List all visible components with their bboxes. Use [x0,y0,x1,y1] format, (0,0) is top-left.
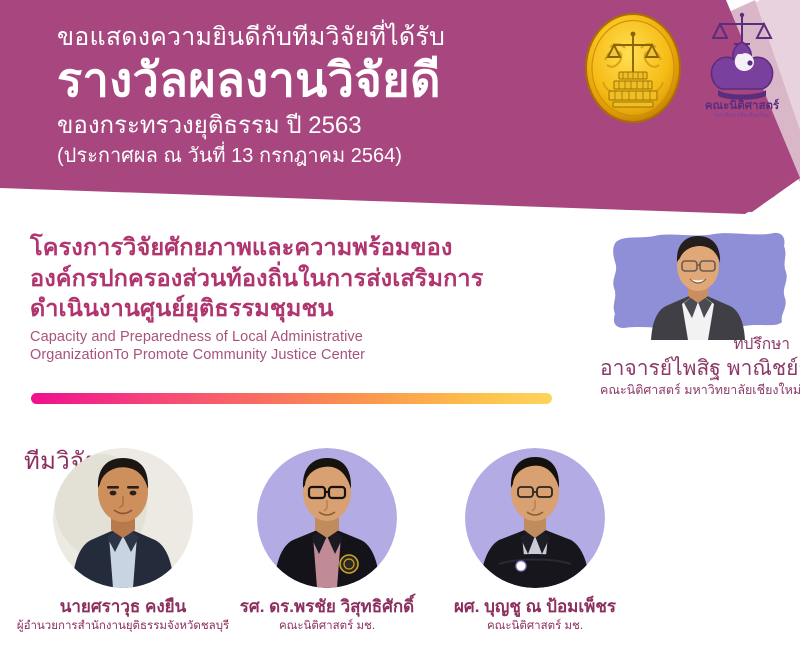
team-member-role: คณะนิติศาสตร์ มช. [420,620,650,634]
project-title-th-line-3: ดำเนินงานศูนย์ยุติธรรมชุมชน [30,293,560,324]
team-member-2: รศ. ดร.พรชัย วิสุทธิศักดิ์ คณะนิติศาสตร์… [212,448,442,634]
advisor-card: ที่ปรึกษา อาจารย์ไพสิฐ พาณิชย์กุล คณะนิต… [600,228,800,399]
ministry-year-line: ของกระทรวงยุติธรรม ปี 2563 [57,110,445,141]
team-member-name: นายศราวุธ คงยืน [8,597,238,617]
header-banner: ขอแสดงความยินดีกับทีมวิจัยที่ได้รับ รางว… [0,0,800,215]
team-member-role: ผู้อำนวยการสำนักงานยุติธรรมจังหวัดชลบุรี [8,620,238,634]
team-member-3: ผศ. บุญชู ณ ป้อมเพ็ชร คณะนิติศาสตร์ มช. [420,448,650,634]
advisor-affiliation: คณะนิติศาสตร์ มหาวิทยาลัยเชียงใหม่ [600,383,800,399]
banner-text-block: ขอแสดงความยินดีกับทีมวิจัยที่ได้รับ รางว… [57,22,445,169]
team-member-name: ผศ. บุญชู ณ ป้อมเพ็ชร [420,597,650,617]
project-title-th: โครงการวิจัยศักยภาพและความพร้อมของ องค์ก… [30,232,560,324]
team-member-role: คณะนิติศาสตร์ มช. [212,620,442,634]
project-title-en: Capacity and Preparedness of Local Admin… [30,328,560,365]
faculty-name-th: คณะนิติศาสตร์ [705,98,780,112]
project-title-en-line-1: Capacity and Preparedness of Local Admin… [30,328,560,346]
avatar [257,448,397,588]
avatar [465,448,605,588]
project-title-en-line-2: OrganizationTo Promote Community Justice… [30,346,560,364]
team-member-portrait-2 [257,448,397,588]
advisor-photo-wrap [602,228,798,338]
team-member-portrait-1 [53,448,193,588]
project-title-block: โครงการวิจัยศักยภาพและความพร้อมของ องค์ก… [30,232,560,364]
advisor-portrait [642,232,754,340]
team-member-name: รศ. ดร.พรชัย วิสุทธิศักดิ์ [212,597,442,617]
award-title: รางวัลผลงานวิจัยดี [57,54,445,107]
congrats-line: ขอแสดงความยินดีกับทีมวิจัยที่ได้รับ [57,22,445,53]
announcement-date-line: (ประกาศผล ณ วันที่ 13 กรกฎาคม 2564) [57,143,445,169]
cmu-law-faculty-logo: คณะนิติศาสตร์ มหาวิทยาลัยเชียงใหม่ [690,10,794,120]
team-member-1: นายศราวุธ คงยืน ผู้อำนวยการสำนักงานยุติธ… [8,448,238,634]
team-member-portrait-3 [465,448,605,588]
team-section: นายศราวุธ คงยืน ผู้อำนวยการสำนักงานยุติธ… [0,448,800,658]
advisor-name: อาจารย์ไพสิฐ พาณิชย์กุล [600,356,800,382]
gradient-divider [31,393,552,404]
faculty-subname-th: มหาวิทยาลัยเชียงใหม่ [714,111,770,119]
avatar [53,448,193,588]
project-title-th-line-2: องค์กรปกครองส่วนท้องถิ่นในการส่งเสริมการ [30,263,560,294]
project-title-th-line-1: โครงการวิจัยศักยภาพและความพร้อมของ [30,232,560,263]
gold-justice-medal-icon [583,12,683,124]
